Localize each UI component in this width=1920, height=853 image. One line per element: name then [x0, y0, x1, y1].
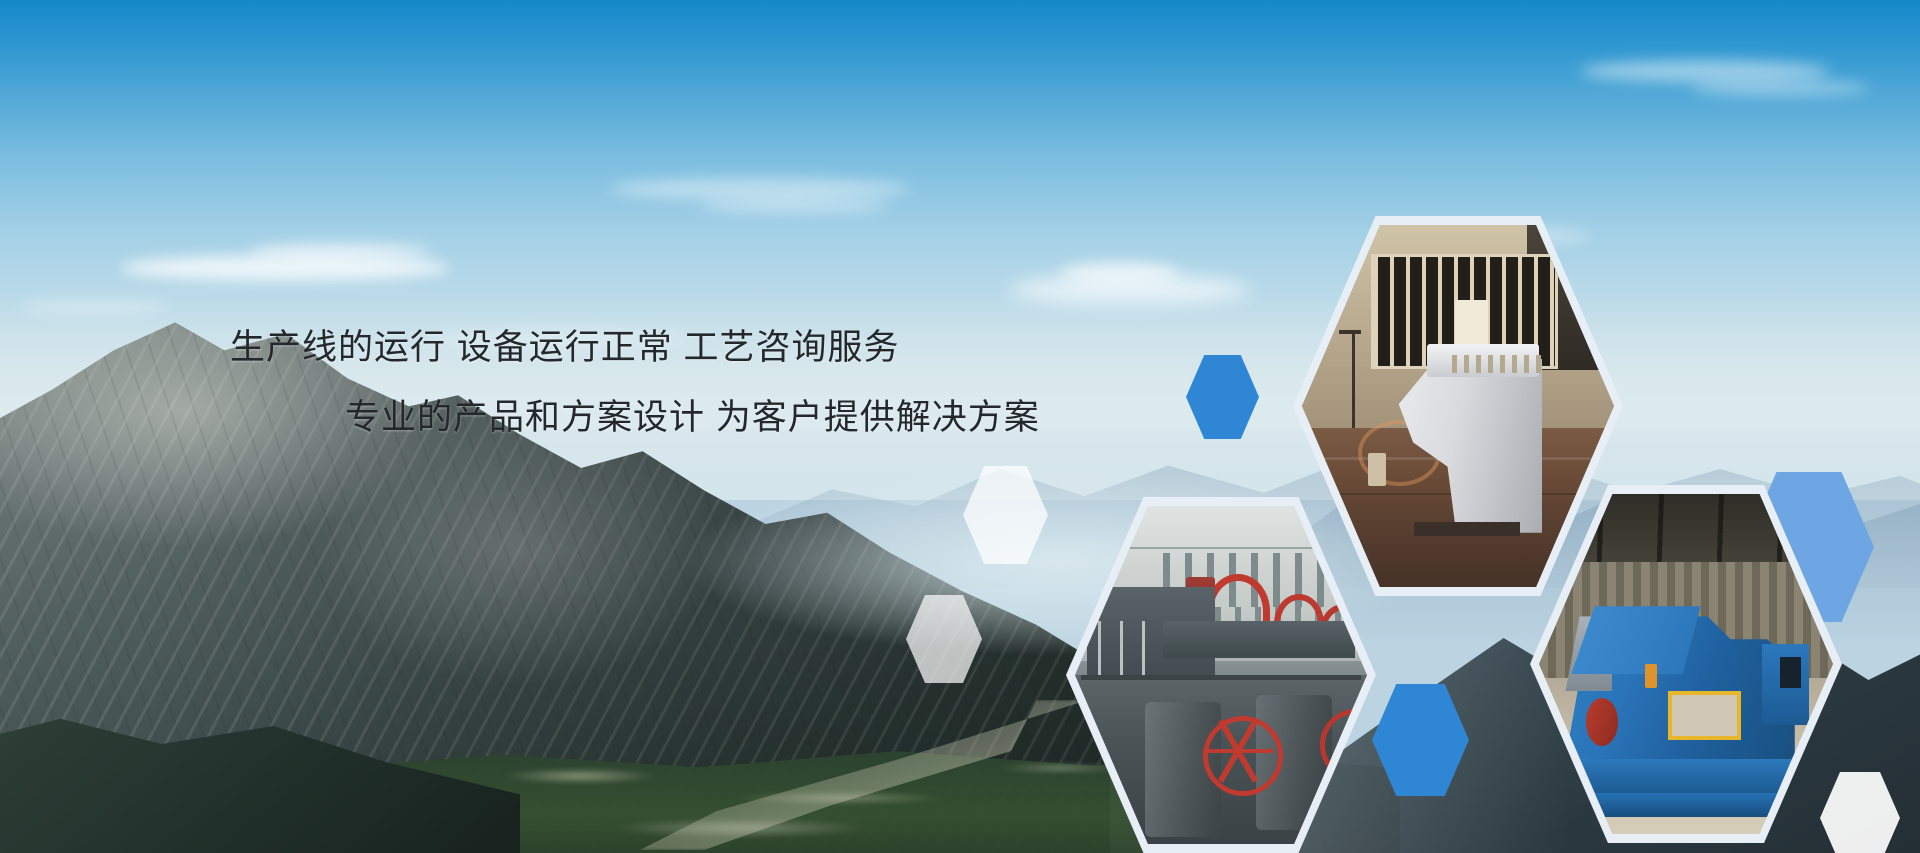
photo-mask [1539, 494, 1833, 834]
photo-mask [1075, 506, 1367, 844]
headline-block: 生产线的运行 设备运行正常 工艺咨询服务 专业的产品和方案设计 为客户提供解决方… [0, 330, 1120, 435]
cloud-wisp [610, 178, 910, 200]
cloud-wisp [700, 198, 890, 214]
headline-line-1: 生产线的运行 设备运行正常 工艺咨询服务 [230, 330, 1120, 365]
banner-stage: 生产线的运行 设备运行正常 工艺咨询服务 专业的产品和方案设计 为客户提供解决方… [0, 0, 1920, 853]
cloud-wisp [250, 243, 430, 261]
photo-grey-press-line [1075, 506, 1367, 844]
photo-blue-shredder-machine [1539, 494, 1833, 834]
cloud-wisp [1580, 60, 1830, 82]
headline-line-2: 专业的产品和方案设计 为客户提供解决方案 [345, 400, 1120, 435]
cloud-wisp [1690, 80, 1870, 96]
cloud-puff [1060, 262, 1180, 284]
photo-mask [1302, 225, 1614, 587]
photo-vertical-mill-workshop [1302, 225, 1614, 587]
